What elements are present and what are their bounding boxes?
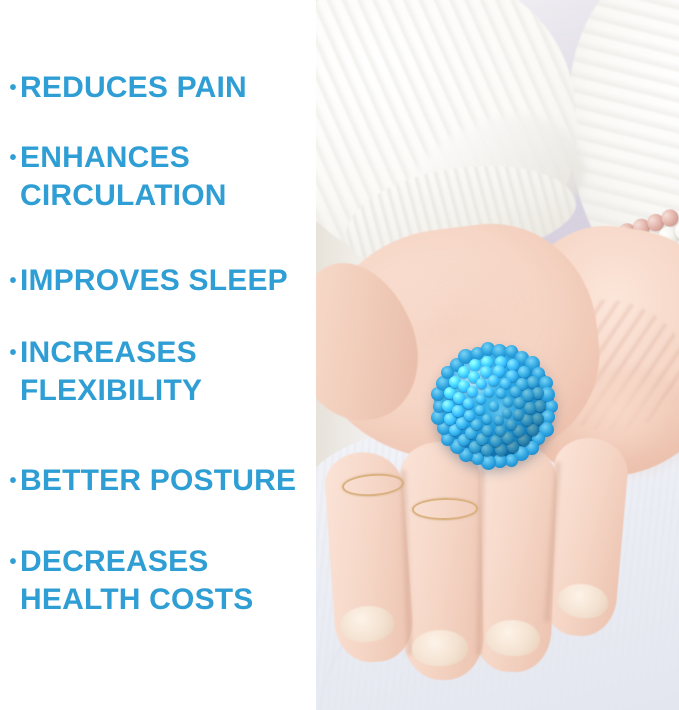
ball-spike [532,413,544,425]
ball-spike [489,401,499,411]
ball-spike [502,408,512,418]
benefit-item-reduces-pain: • REDUCES PAIN [6,69,314,107]
bullet-icon: • [6,543,20,581]
benefit-label: REDUCES PAIN [20,69,314,107]
benefits-list: • REDUCES PAIN • ENHANCES CIRCULATION • … [0,0,316,710]
benefit-label: IMPROVES SLEEP [20,262,314,300]
benefit-item-enhances-circulation: • ENHANCES CIRCULATION [6,139,314,215]
bullet-icon: • [6,462,20,500]
ball-spike [505,454,518,467]
bullet-icon: • [6,139,20,177]
ball-spike [494,415,504,425]
bullet-icon: • [6,69,20,107]
ball-spike [496,388,506,398]
spiky-massage-ball [434,346,554,466]
fingernail [412,630,469,667]
ball-spike [527,376,539,388]
ball-spike [490,435,502,447]
ball-spike [463,398,474,409]
ball-spike [464,410,475,421]
bullet-icon: • [6,334,20,372]
bullet-icon: • [6,262,20,300]
product-infographic: • REDUCES PAIN • ENHANCES CIRCULATION • … [0,0,679,710]
benefit-item-increases-flexibility: • INCREASES FLEXIBILITY [6,334,314,410]
benefit-label: ENHANCES CIRCULATION [20,139,314,215]
ball-spike [527,424,539,436]
benefit-item-improves-sleep: • IMPROVES SLEEP [6,262,314,300]
ball-spike [503,397,513,407]
benefit-item-decreases-health-costs: • DECREASES HEALTH COSTS [6,543,314,619]
ball-spike [495,425,506,436]
benefit-label: BETTER POSTURE [20,462,314,500]
benefit-label: DECREASES HEALTH COSTS [20,543,314,619]
ball-spike [510,386,521,397]
ball-spike [476,394,486,404]
benefit-item-better-posture: • BETTER POSTURE [6,462,314,500]
ball-spike [452,405,464,417]
benefit-label: INCREASES FLEXIBILITY [20,334,314,410]
product-photo [316,0,679,710]
ball-spike [524,402,536,414]
